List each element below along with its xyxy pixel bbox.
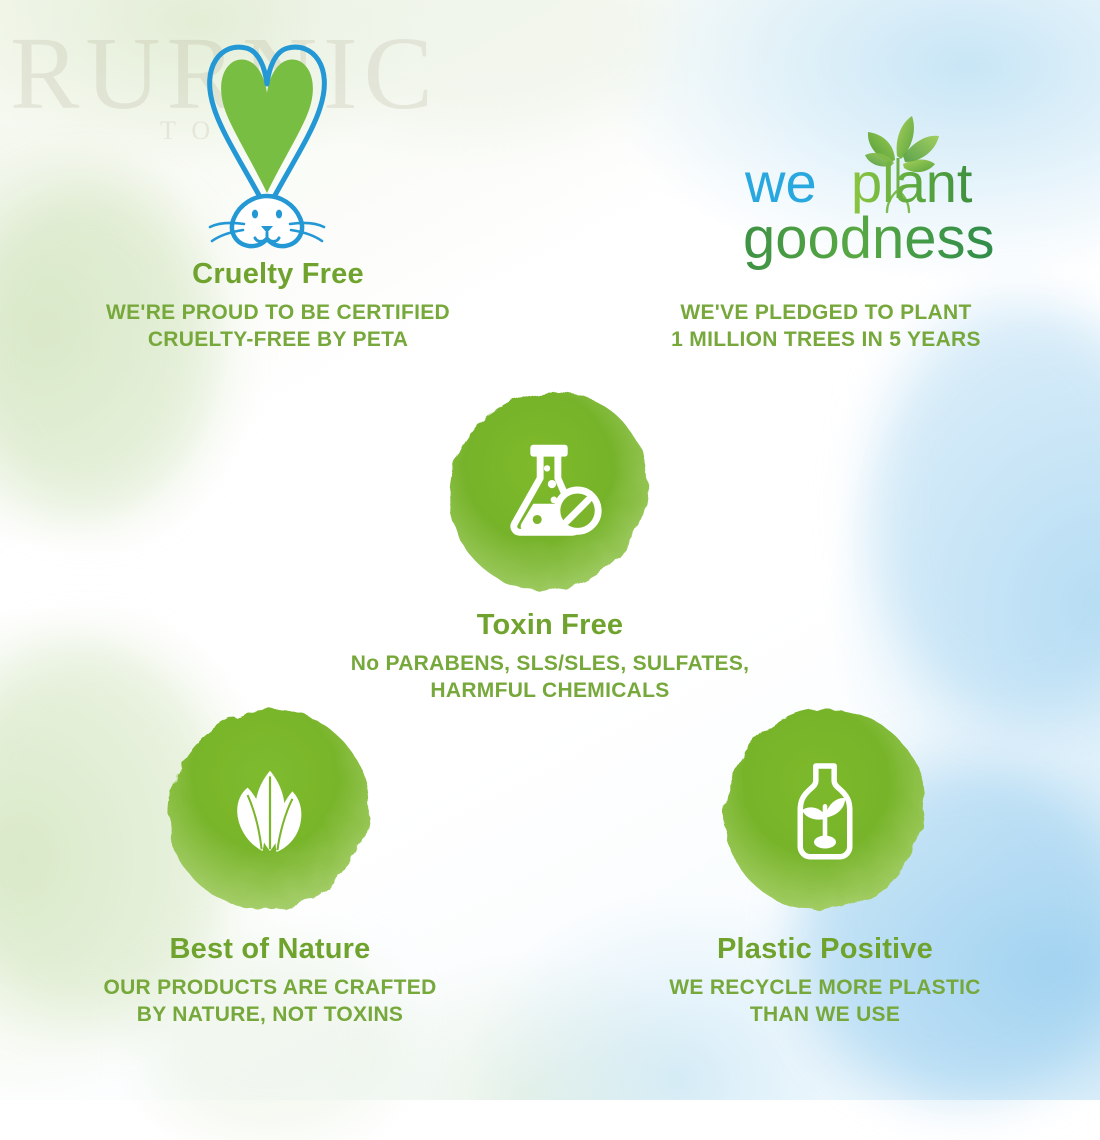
badge-description-line: THAN WE USE bbox=[565, 1002, 1085, 1029]
badge-description-line: BY NATURE, NOT TOXINS bbox=[10, 1002, 530, 1029]
badge-description: OUR PRODUCTS ARE CRAFTED BY NATURE, NOT … bbox=[10, 975, 530, 1029]
badge-description-line: OUR PRODUCTS ARE CRAFTED bbox=[10, 975, 530, 1002]
badge-description: No PARABENS, SLS/SLES, SULFATES, HARMFUL… bbox=[290, 651, 810, 705]
leaves-icon bbox=[165, 705, 375, 915]
badge-description-line: WE'VE PLEDGED TO PLANT bbox=[570, 300, 1082, 327]
wpg-plant-text: plant bbox=[851, 151, 973, 214]
badge-we-plant-goodness: WE'VE PLEDGED TO PLANT 1 MILLION TREES I… bbox=[570, 300, 1082, 354]
badge-plastic-positive: Plastic Positive WE RECYCLE MORE PLASTIC… bbox=[565, 705, 1085, 1029]
badge-description-line: HARMFUL CHEMICALS bbox=[290, 678, 810, 705]
plastic-positive-disc bbox=[720, 705, 930, 915]
badge-title: Toxin Free bbox=[290, 609, 810, 642]
badge-description-line: CRUELTY-FREE BY PETA bbox=[18, 327, 538, 354]
bottle-sprout-icon bbox=[720, 705, 930, 915]
peta-cruelty-free-bunny-icon bbox=[170, 38, 365, 253]
badge-toxin-free: Toxin Free No PARABENS, SLS/SLES, SULFAT… bbox=[290, 385, 810, 705]
toxin-free-disc bbox=[445, 385, 655, 595]
wpg-goodness-text: goodness bbox=[743, 206, 995, 271]
badge-description-line: No PARABENS, SLS/SLES, SULFATES, bbox=[290, 651, 810, 678]
badge-title: Best of Nature bbox=[10, 933, 530, 966]
badge-description: WE RECYCLE MORE PLASTIC THAN WE USE bbox=[565, 975, 1085, 1029]
badge-description-line: WE'RE PROUD TO BE CERTIFIED bbox=[18, 300, 538, 327]
badge-title: Plastic Positive bbox=[565, 933, 1085, 966]
flask-prohibited-icon bbox=[445, 385, 655, 595]
wpg-we-text: we bbox=[744, 151, 817, 214]
badge-description-line: WE RECYCLE MORE PLASTIC bbox=[565, 975, 1085, 1002]
badge-description: WE'VE PLEDGED TO PLANT 1 MILLION TREES I… bbox=[570, 300, 1082, 354]
badge-description-line: 1 MILLION TREES IN 5 YEARS bbox=[570, 327, 1082, 354]
badge-cruelty-free: Cruelty Free WE'RE PROUD TO BE CERTIFIED… bbox=[18, 258, 538, 354]
badge-title: Cruelty Free bbox=[18, 258, 538, 291]
badge-description: WE'RE PROUD TO BE CERTIFIED CRUELTY-FREE… bbox=[18, 300, 538, 354]
badge-best-of-nature: Best of Nature OUR PRODUCTS ARE CRAFTED … bbox=[10, 705, 530, 1029]
best-of-nature-disc bbox=[165, 705, 375, 915]
we-plant-goodness-logo: we plant goodness bbox=[735, 110, 1025, 275]
